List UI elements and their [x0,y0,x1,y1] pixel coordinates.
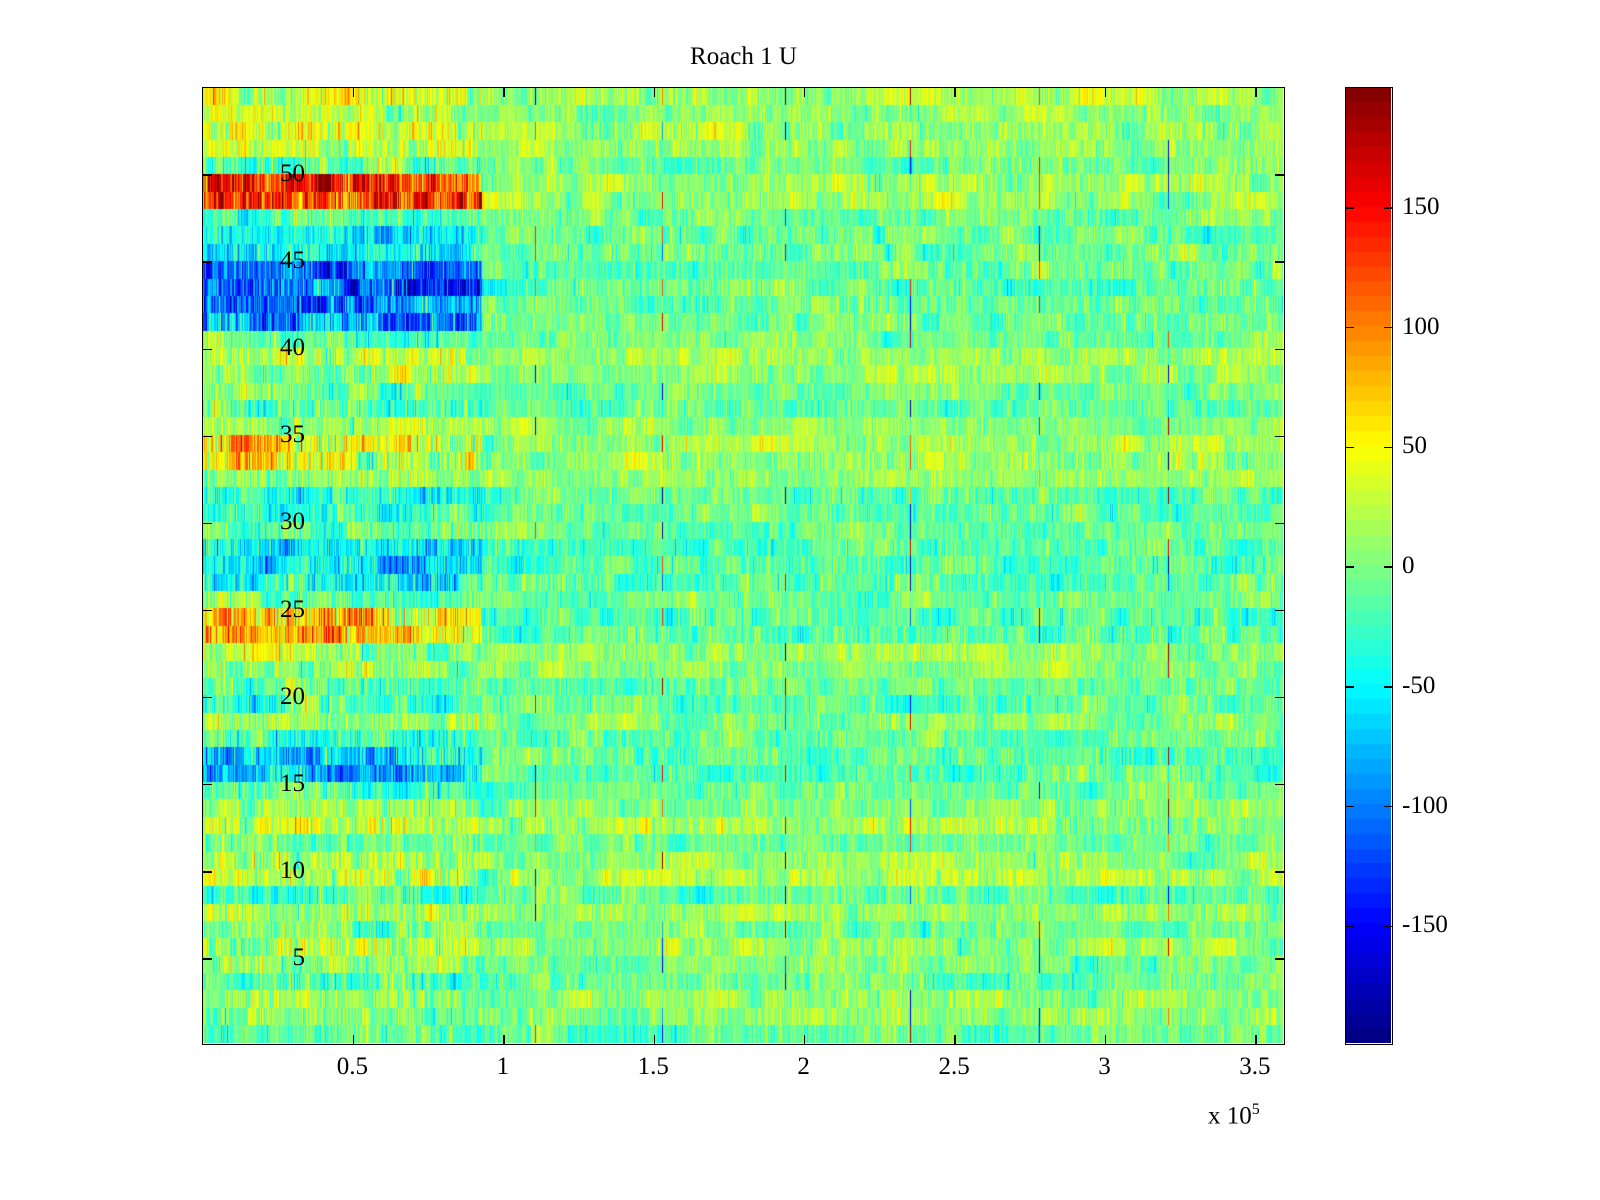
colorbar-tick-label: 50 [1402,432,1427,460]
x-axis-tick [503,88,505,97]
colorbar-tick [1384,566,1392,568]
colorbar-tick-label: -50 [1402,672,1435,700]
y-axis-tick-label: 40 [215,334,305,362]
y-axis-tick [1275,349,1284,351]
x-axis-tick [654,1035,656,1044]
colorbar-tick [1384,327,1392,329]
y-axis-tick-label: 45 [215,247,305,275]
y-axis-tick-label: 15 [215,770,305,798]
y-axis-tick [1275,697,1284,699]
x-axis-tick [353,88,355,97]
x-axis-tick-label: 2.5 [938,1053,969,1081]
colorbar-tick [1346,686,1354,688]
x-axis-tick-label: 1.5 [638,1053,669,1081]
y-axis-tick [203,523,212,525]
colorbar-tick [1384,806,1392,808]
y-axis-tick-label: 20 [215,683,305,711]
colorbar-tick-label: 100 [1402,313,1440,341]
y-axis-tick [203,436,212,438]
y-axis-tick [1275,261,1284,263]
colorbar-tick [1346,566,1354,568]
y-axis-tick-label: 5 [215,944,305,972]
y-axis-tick [203,261,212,263]
colorbar-tick [1346,806,1354,808]
x-axis-tick [804,1035,806,1044]
colorbar-tick [1346,926,1354,928]
page-title: Roach 1 U [202,44,1285,69]
y-axis-tick [1275,523,1284,525]
colorbar[interactable] [1345,87,1393,1045]
colorbar-tick [1384,207,1392,209]
x-axis-tick-label: 0.5 [337,1053,368,1081]
x-axis-tick-label: 3 [1098,1053,1111,1081]
x-axis-tick [1255,1035,1257,1044]
y-axis-tick [203,958,212,960]
y-axis-tick [1275,610,1284,612]
x-axis-tick [654,88,656,97]
colorbar-tick [1346,447,1354,449]
y-axis-tick-label: 10 [215,857,305,885]
x-axis-tick [804,88,806,97]
y-axis-tick [203,349,212,351]
y-axis-tick [1275,174,1284,176]
y-axis-tick [1275,871,1284,873]
heatmap-axes[interactable] [202,87,1285,1045]
y-axis-tick-label: 35 [215,421,305,449]
x-axis-tick-label: 1 [497,1053,510,1081]
y-axis-tick [203,871,212,873]
y-axis-tick-label: 50 [215,160,305,188]
colorbar-tick-label: -100 [1402,792,1448,820]
y-axis-tick-label: 30 [215,508,305,536]
x-axis-tick [353,1035,355,1044]
heatmap-image [203,88,1283,1043]
colorbar-tick-label: 0 [1402,552,1415,580]
colorbar-tick [1384,686,1392,688]
x-axis-tick [954,88,956,97]
x-axis-tick [1255,88,1257,97]
colorbar-tick [1384,447,1392,449]
y-axis-tick [203,174,212,176]
colorbar-tick [1346,327,1354,329]
y-axis-tick [1275,436,1284,438]
y-axis-tick [1275,784,1284,786]
colorbar-tick-label: -150 [1402,911,1448,939]
x-axis-tick [1105,1035,1107,1044]
x-axis-tick [954,1035,956,1044]
x-axis-tick [503,1035,505,1044]
y-axis-tick [203,784,212,786]
x-axis-tick-label: 2 [797,1053,810,1081]
y-axis-tick [203,610,212,612]
colorbar-tick [1384,926,1392,928]
figure-canvas: Roach 1 U x 105 51015202530354045500.511… [0,0,1600,1200]
x-axis-exponent-label: x 105 [1208,1101,1260,1130]
y-axis-tick [203,697,212,699]
colorbar-tick-label: 150 [1402,193,1440,221]
y-axis-tick [1275,958,1284,960]
colorbar-tick [1346,207,1354,209]
x-axis-tick [1105,88,1107,97]
y-axis-tick-label: 25 [215,596,305,624]
x-axis-tick-label: 3.5 [1239,1053,1270,1081]
